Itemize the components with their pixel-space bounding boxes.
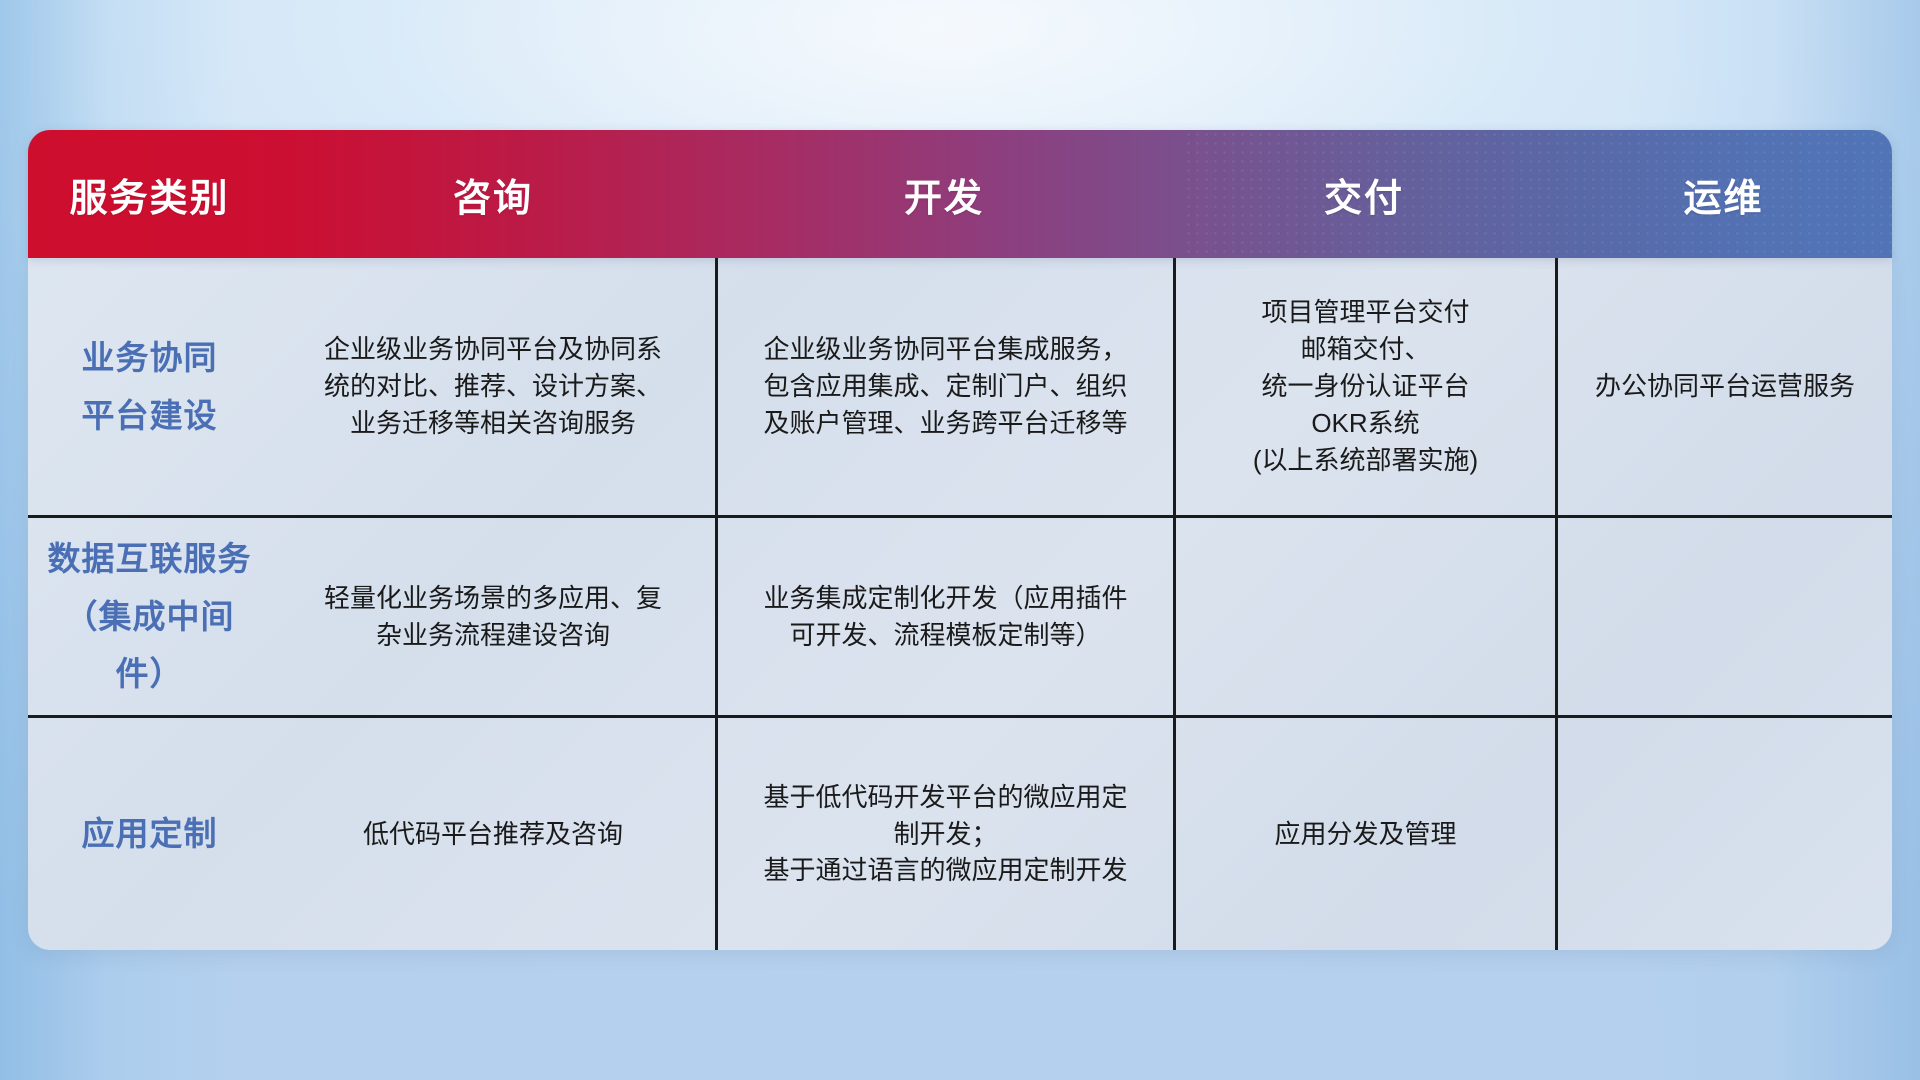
table-body: 业务协同 平台建设 企业级业务协同平台及协同系 统的对比、推荐、设计方案、 业务…: [28, 258, 1892, 950]
cell-consulting: 企业级业务协同平台及协同系 统的对比、推荐、设计方案、 业务迁移等相关咨询服务: [271, 258, 715, 515]
cell-delivery: 应用分发及管理: [1173, 718, 1555, 950]
cell-consulting: 轻量化业务场景的多应用、复 杂业务流程建设咨询: [271, 518, 715, 715]
column-header-consulting: 咨询: [271, 130, 715, 258]
cell-operations: [1555, 518, 1892, 715]
row-category-label: 业务协同 平台建设: [28, 258, 271, 515]
cell-development: 企业级业务协同平台集成服务， 包含应用集成、定制门户、组织 及账户管理、业务跨平…: [715, 258, 1173, 515]
cell-development: 业务集成定制化开发（应用插件 可开发、流程模板定制等）: [715, 518, 1173, 715]
column-header-category: 服务类别: [28, 130, 271, 258]
table-row: 数据互联服务 （集成中间件） 轻量化业务场景的多应用、复 杂业务流程建设咨询 业…: [28, 515, 1892, 715]
cell-operations: 办公协同平台运营服务: [1555, 258, 1892, 515]
row-category-label: 数据互联服务 （集成中间件）: [28, 518, 271, 715]
table-header-row: 服务类别 咨询 开发 交付 运维: [28, 130, 1892, 258]
column-header-development: 开发: [715, 130, 1173, 258]
table-row: 应用定制 低代码平台推荐及咨询 基于低代码开发平台的微应用定 制开发； 基于通过…: [28, 715, 1892, 950]
table-row: 业务协同 平台建设 企业级业务协同平台及协同系 统的对比、推荐、设计方案、 业务…: [28, 258, 1892, 515]
cell-operations: [1555, 718, 1892, 950]
cell-consulting: 低代码平台推荐及咨询: [271, 718, 715, 950]
cell-delivery: 项目管理平台交付 邮箱交付、 统一身份认证平台 OKR系统 (以上系统部署实施): [1173, 258, 1555, 515]
cell-delivery: [1173, 518, 1555, 715]
cell-development: 基于低代码开发平台的微应用定 制开发； 基于通过语言的微应用定制开发: [715, 718, 1173, 950]
row-category-label: 应用定制: [28, 718, 271, 950]
column-header-operations: 运维: [1555, 130, 1892, 258]
service-matrix-table: 服务类别 咨询 开发 交付 运维 业务协同 平台建设 企业级业务协同平台及协同系…: [28, 130, 1892, 950]
column-header-delivery: 交付: [1173, 130, 1555, 258]
